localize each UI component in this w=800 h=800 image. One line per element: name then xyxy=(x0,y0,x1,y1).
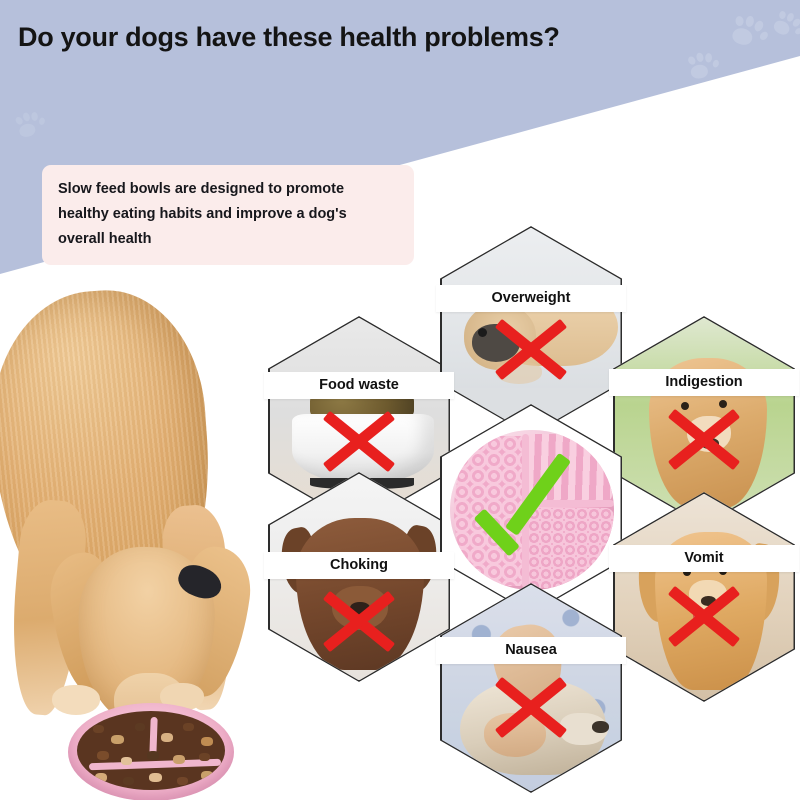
hex-label-indigestion: Indigestion xyxy=(609,369,799,396)
hex-label-vomit: Vomit xyxy=(609,545,799,572)
hex-cell-solution[interactable] xyxy=(440,404,622,614)
hex-label-nausea: Nausea xyxy=(436,637,626,664)
hex-label-choking: Choking xyxy=(264,552,454,579)
subtitle-line-2: healthy eating habits and improve a dog'… xyxy=(58,202,398,227)
hex-photo-overweight xyxy=(442,228,621,435)
page-title: Do your dogs have these health problems? xyxy=(18,22,560,53)
hex-label-food-waste: Food waste xyxy=(264,372,454,399)
hex-cell-vomit[interactable] xyxy=(613,492,795,702)
subtitle-line-3: overall health xyxy=(58,227,398,252)
subtitle-line-1: Slow feed bowls are designed to promote xyxy=(58,177,398,202)
hex-photo-nausea xyxy=(442,585,621,792)
hexagon-grid: Food waste Overweight xyxy=(0,0,800,800)
hex-photo-vomit xyxy=(615,494,794,701)
hex-cell-nausea[interactable] xyxy=(440,583,622,793)
hex-label-overweight: Overweight xyxy=(436,285,626,312)
subtitle-panel: Slow feed bowls are designed to promote … xyxy=(42,165,414,265)
hex-photo-slow-feed-bowl xyxy=(442,406,621,613)
infographic-canvas: Do your dogs have these health problems?… xyxy=(0,0,800,800)
